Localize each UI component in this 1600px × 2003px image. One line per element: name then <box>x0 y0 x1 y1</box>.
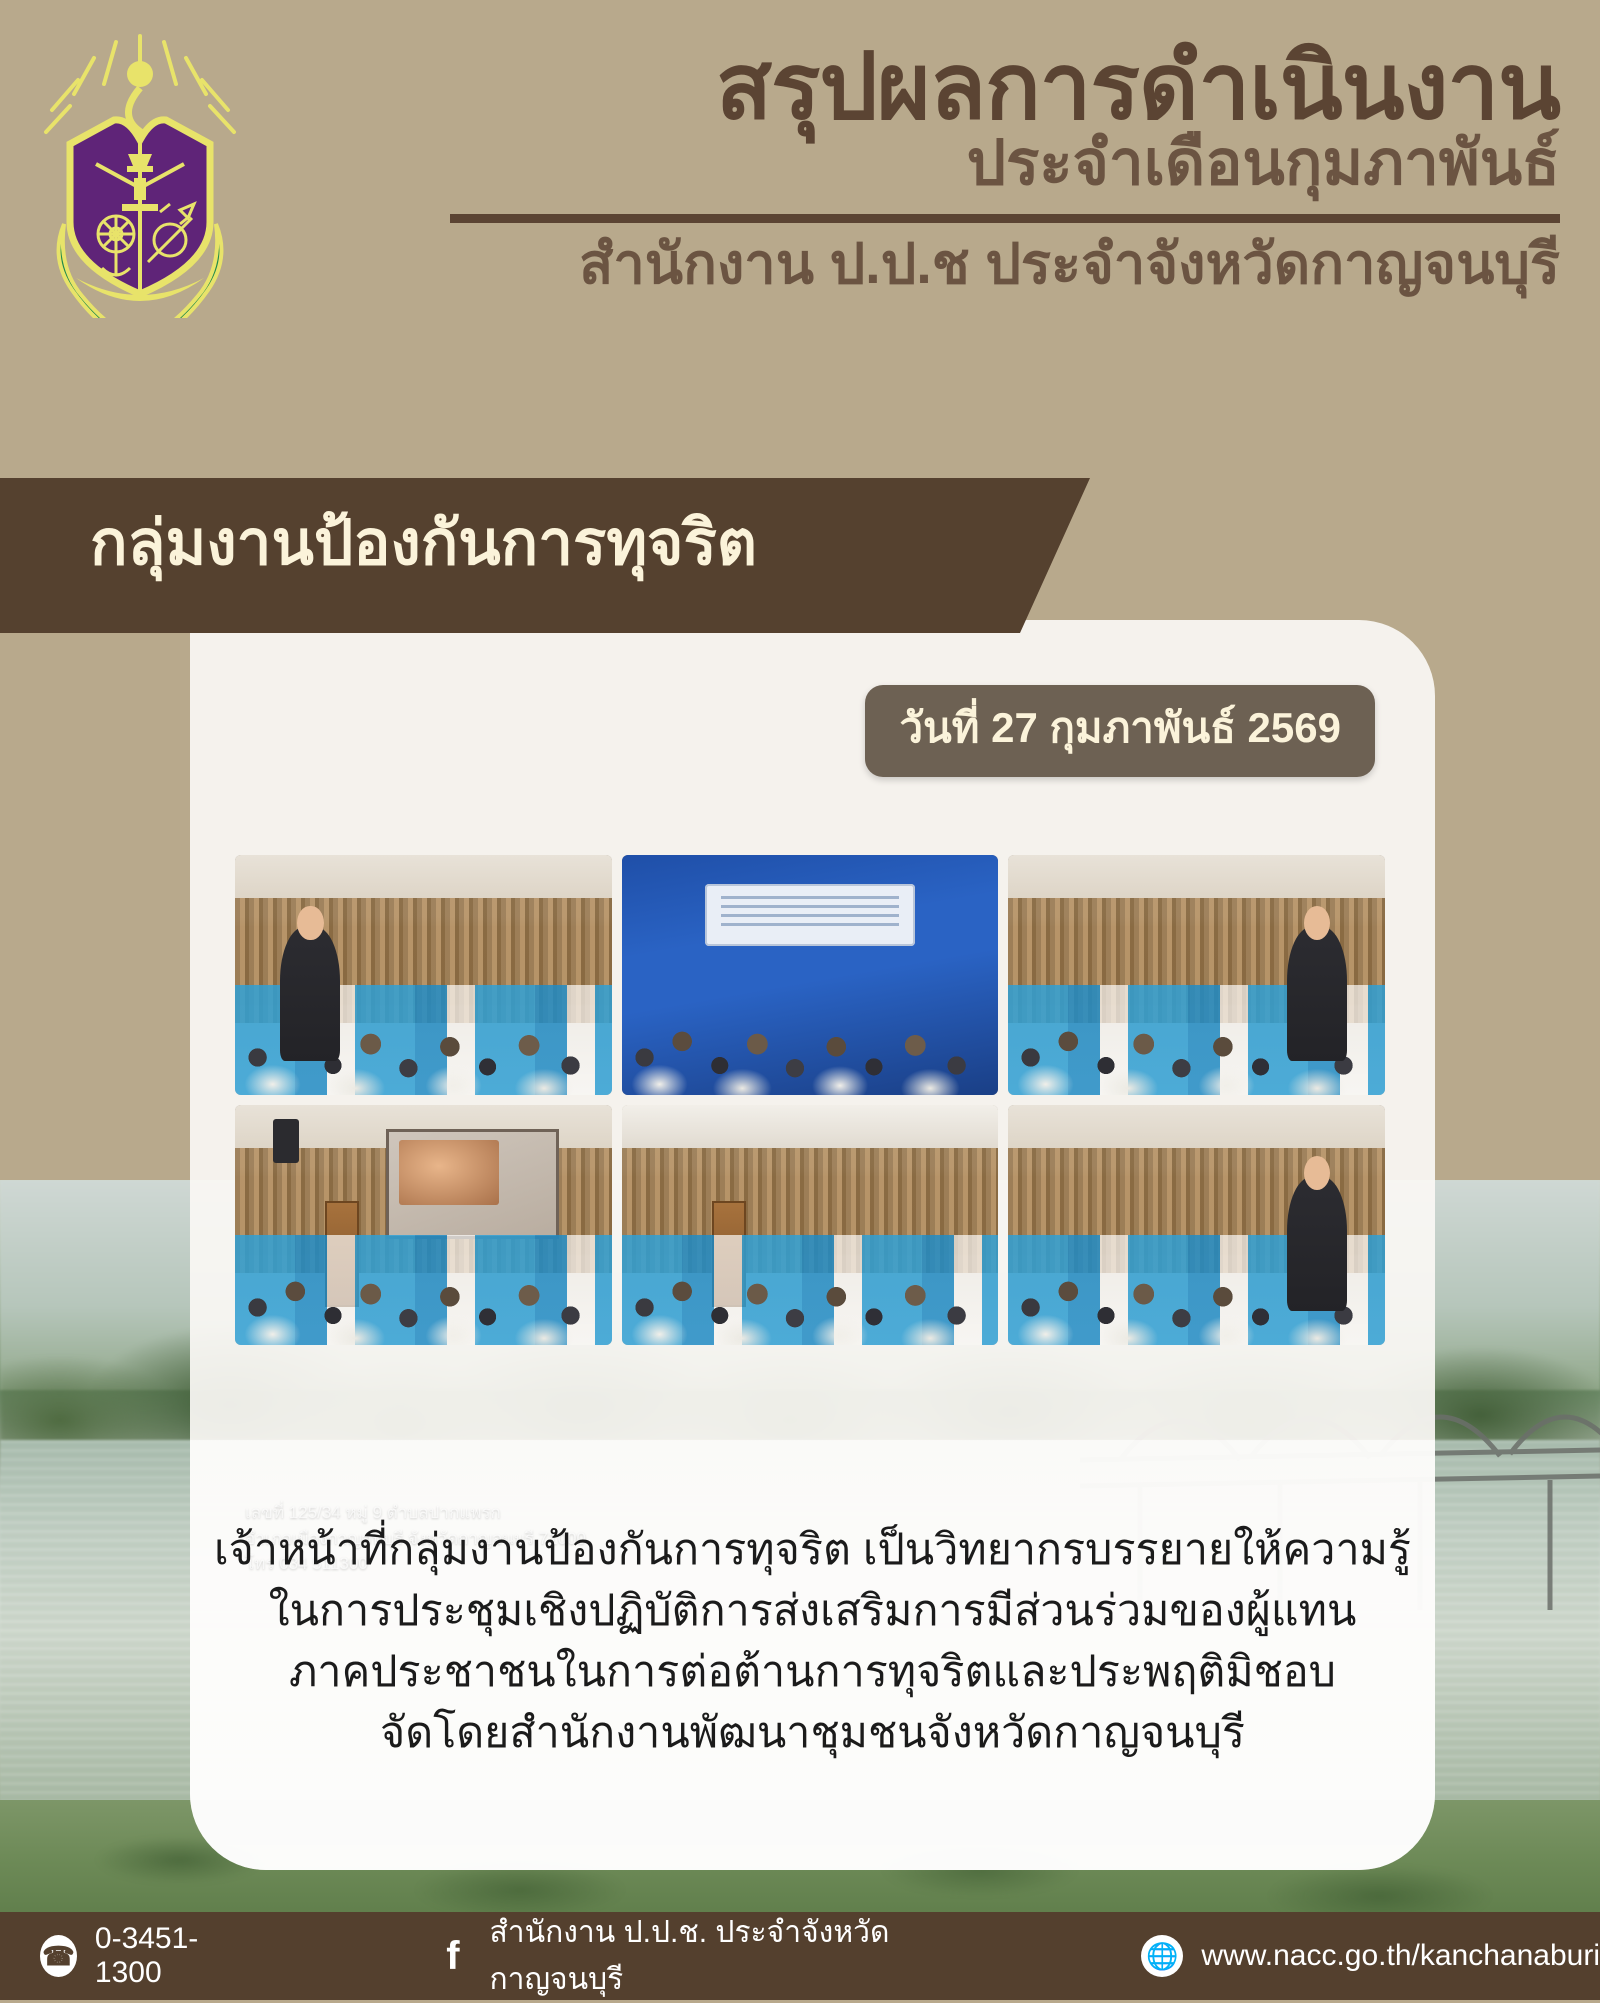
photo-wide-view-of-workshop-room[interactable] <box>622 1105 999 1345</box>
content-card: วันที่ 27 กุมภาพันธ์ 2569 <box>190 620 1435 1870</box>
page-title: สรุปผลการดำเนินงาน <box>300 40 1560 136</box>
title-divider-rule <box>450 214 1560 223</box>
footer-website[interactable]: 🌐 www.nacc.go.th/kanchanaburi <box>1141 1935 1600 1977</box>
date-badge: วันที่ 27 กุมภาพันธ์ 2569 <box>865 685 1375 777</box>
page-subtitle: ประจำเดือนกุมภาพันธ์ <box>300 130 1560 198</box>
group-banner-angled-tail <box>1020 478 1090 633</box>
footer-phone[interactable]: ☎ 0-3451-1300 <box>40 1922 244 1990</box>
photo-group-standing-in-front-of-blue-screen[interactable] <box>622 855 999 1095</box>
header-band: สรุปผลการดำเนินงาน ประจำเดือนกุมภาพันธ์ … <box>0 0 1600 480</box>
group-banner: กลุ่มงานป้องกันการทุจริต <box>0 478 1020 633</box>
footer-website-label: www.nacc.go.th/kanchanaburi <box>1201 1939 1600 1973</box>
photo-speaker-with-microphone-at-tables[interactable] <box>235 855 612 1095</box>
phone-icon: ☎ <box>40 1935 77 1977</box>
caption-line-3: ภาคประชาชนในการต่อต้านการทุจริตและประพฤต… <box>190 1642 1435 1703</box>
footer-phone-label: 0-3451-1300 <box>95 1922 244 1990</box>
caption-line-2: ในการประชุมเชิงปฏิบัติการส่งเสริมการมีส่… <box>190 1581 1435 1642</box>
photo-staff-walking-among-participants[interactable] <box>1008 855 1385 1095</box>
header-title-block: สรุปผลการดำเนินงาน ประจำเดือนกุมภาพันธ์ … <box>300 40 1580 294</box>
photo-grid <box>235 855 1385 1345</box>
facebook-icon: f <box>434 1935 471 1977</box>
photo-presenter-standing-beside-participants[interactable] <box>1008 1105 1385 1345</box>
caption-line-1: เจ้าหน้าที่กลุ่มงานป้องกันการทุจริต เป็น… <box>190 1520 1435 1581</box>
globe-icon: 🌐 <box>1141 1935 1183 1977</box>
office-name: สำนักงาน ป.ป.ช ประจำจังหวัดกาญจนบุรี <box>300 233 1560 295</box>
group-banner-label: กลุ่มงานป้องกันการทุจริต <box>90 510 757 578</box>
photo-audience-watching-projector-screen[interactable] <box>235 1105 612 1345</box>
footer-facebook[interactable]: f สำนักงาน ป.ป.ช. ประจำจังหวัดกาญจนบุรี <box>434 1909 961 2003</box>
footer-bar: ☎ 0-3451-1300 f สำนักงาน ป.ป.ช. ประจำจัง… <box>0 1912 1600 2000</box>
caption-line-4: จัดโดยสำนักงานพัฒนาชุมชนจังหวัดกาญจนบุรี <box>190 1703 1435 1764</box>
agency-emblem-icon <box>30 28 250 318</box>
footer-facebook-label: สำนักงาน ป.ป.ช. ประจำจังหวัดกาญจนบุรี <box>489 1909 961 2003</box>
activity-caption: เจ้าหน้าที่กลุ่มงานป้องกันการทุจริต เป็น… <box>190 1520 1435 1764</box>
